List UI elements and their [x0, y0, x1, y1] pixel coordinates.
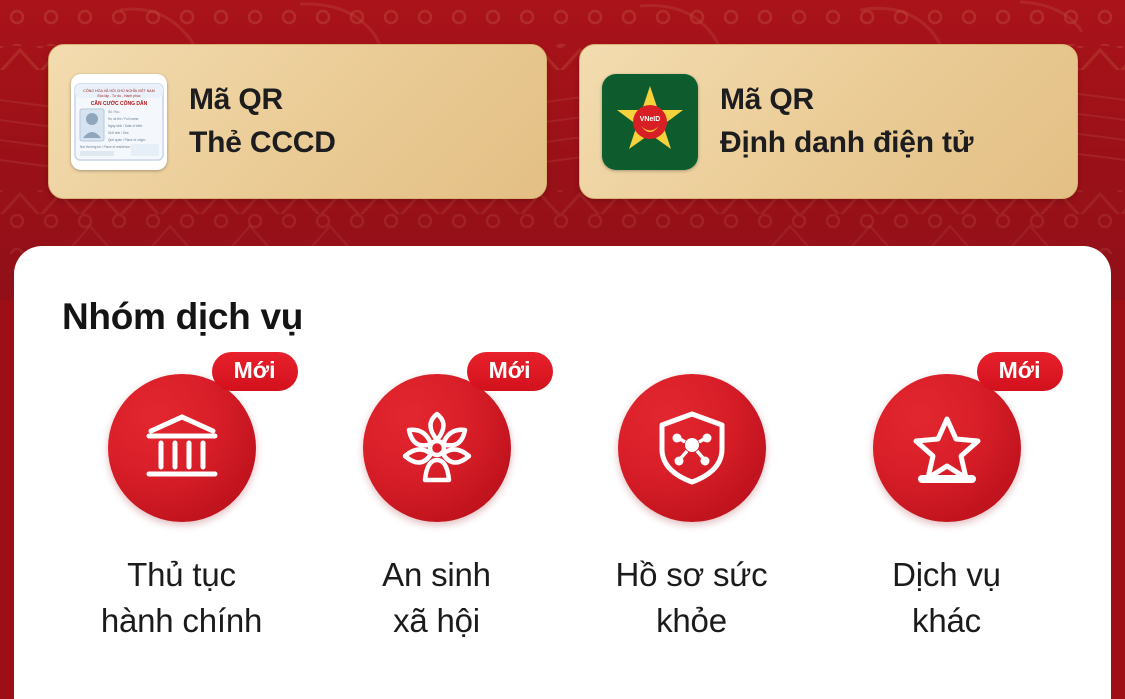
star-service-icon — [873, 374, 1021, 522]
service-label-3-line2: khỏe — [616, 598, 768, 644]
badge-new-1: Mới — [212, 352, 298, 391]
service-label-1-line1: Thủ tục — [101, 552, 262, 598]
cccd-card-image: CỘNG HÒA XÃ HỘI CHỦ NGHĨA VIỆT NAM Độc l… — [71, 74, 167, 170]
service-label-4: Dịch vụ khác — [892, 552, 1001, 643]
service-list: Mới Thủ tục hành chính — [54, 374, 1074, 643]
service-label-3-line1: Hồ sơ sức — [616, 552, 768, 598]
qr-card-cccd-line2: Thẻ CCCD — [189, 122, 336, 165]
svg-text:Nơi thường trú / Place of resi: Nơi thường trú / Place of residence: — [80, 145, 131, 149]
service-label-2-line2: xã hội — [382, 598, 491, 644]
service-label-1: Thủ tục hành chính — [101, 552, 262, 643]
service-icon-wrap-1: Mới — [108, 374, 256, 522]
bank-building-icon — [108, 374, 256, 522]
service-icon-wrap-4: Mới — [873, 374, 1021, 522]
qr-card-vneid-line1: Mã QR — [720, 79, 973, 122]
qr-card-vneid-line2: Định danh điện tử — [720, 122, 973, 165]
service-icon-wrap-3 — [618, 374, 766, 522]
svg-text:Quê quán / Place of origin:: Quê quán / Place of origin: — [108, 138, 146, 142]
vneid-logo-icon: VNeID — [602, 74, 698, 170]
service-label-4-line1: Dịch vụ — [892, 552, 1001, 598]
qr-card-list: CỘNG HÒA XÃ HỘI CHỦ NGHĨA VIỆT NAM Độc l… — [48, 44, 1078, 199]
qr-card-vneid-label: Mã QR Định danh điện tử — [720, 79, 973, 164]
star-service-glyph — [904, 405, 990, 491]
badge-new-4: Mới — [977, 352, 1063, 391]
badge-new-2: Mới — [467, 352, 553, 391]
service-icon-wrap-2: Mới — [363, 374, 511, 522]
svg-text:VNeID: VNeID — [640, 116, 661, 123]
qr-card-vneid[interactable]: VNeID Mã QR Định danh điện tử — [579, 44, 1078, 199]
health-shield-glyph — [649, 405, 735, 491]
vneid-logo-image: VNeID — [605, 77, 695, 167]
svg-text:Họ và tên / Full name:: Họ và tên / Full name: — [108, 117, 139, 121]
bank-building-glyph — [139, 405, 225, 491]
svg-text:Số / No.:: Số / No.: — [108, 110, 121, 114]
service-item-dich-vu-khac[interactable]: Mới Dịch vụ khác — [819, 374, 1074, 643]
service-label-2-line1: An sinh — [382, 552, 491, 598]
qr-card-cccd[interactable]: CỘNG HÒA XÃ HỘI CHỦ NGHĨA VIỆT NAM Độc l… — [48, 44, 547, 199]
health-shield-icon — [618, 374, 766, 522]
service-item-thu-tuc-hanh-chinh[interactable]: Mới Thủ tục hành chính — [54, 374, 309, 643]
lotus-person-glyph — [393, 404, 481, 492]
page-title: Nhóm dịch vụ — [62, 296, 303, 338]
svg-text:Ngày sinh / Date of birth:: Ngày sinh / Date of birth: — [108, 124, 143, 128]
service-label-4-line2: khác — [892, 598, 1001, 644]
lotus-person-icon — [363, 374, 511, 522]
service-item-an-sinh-xa-hoi[interactable]: Mới An sinh xã hội — [309, 374, 564, 643]
cccd-card-icon: CỘNG HÒA XÃ HỘI CHỦ NGHĨA VIỆT NAM Độc l… — [71, 74, 167, 170]
svg-text:CỘNG HÒA XÃ HỘI CHỦ NGHĨA VIỆT: CỘNG HÒA XÃ HỘI CHỦ NGHĨA VIỆT NAM — [83, 88, 154, 93]
service-label-1-line2: hành chính — [101, 598, 262, 644]
service-label-2: An sinh xã hội — [382, 552, 491, 643]
service-item-ho-so-suc-khoe[interactable]: Hồ sơ sức khỏe — [564, 374, 819, 643]
svg-text:Giới tính / Sex:: Giới tính / Sex: — [108, 131, 129, 135]
service-group-panel: Nhóm dịch vụ — [14, 246, 1111, 699]
qr-card-cccd-line1: Mã QR — [189, 79, 336, 122]
qr-card-cccd-label: Mã QR Thẻ CCCD — [189, 79, 336, 164]
svg-text:Độc lập - Tự do - Hạnh phúc: Độc lập - Tự do - Hạnh phúc — [98, 94, 141, 98]
svg-text:CĂN CƯỚC CÔNG DÂN: CĂN CƯỚC CÔNG DÂN — [91, 99, 148, 107]
service-label-3: Hồ sơ sức khỏe — [616, 552, 768, 643]
